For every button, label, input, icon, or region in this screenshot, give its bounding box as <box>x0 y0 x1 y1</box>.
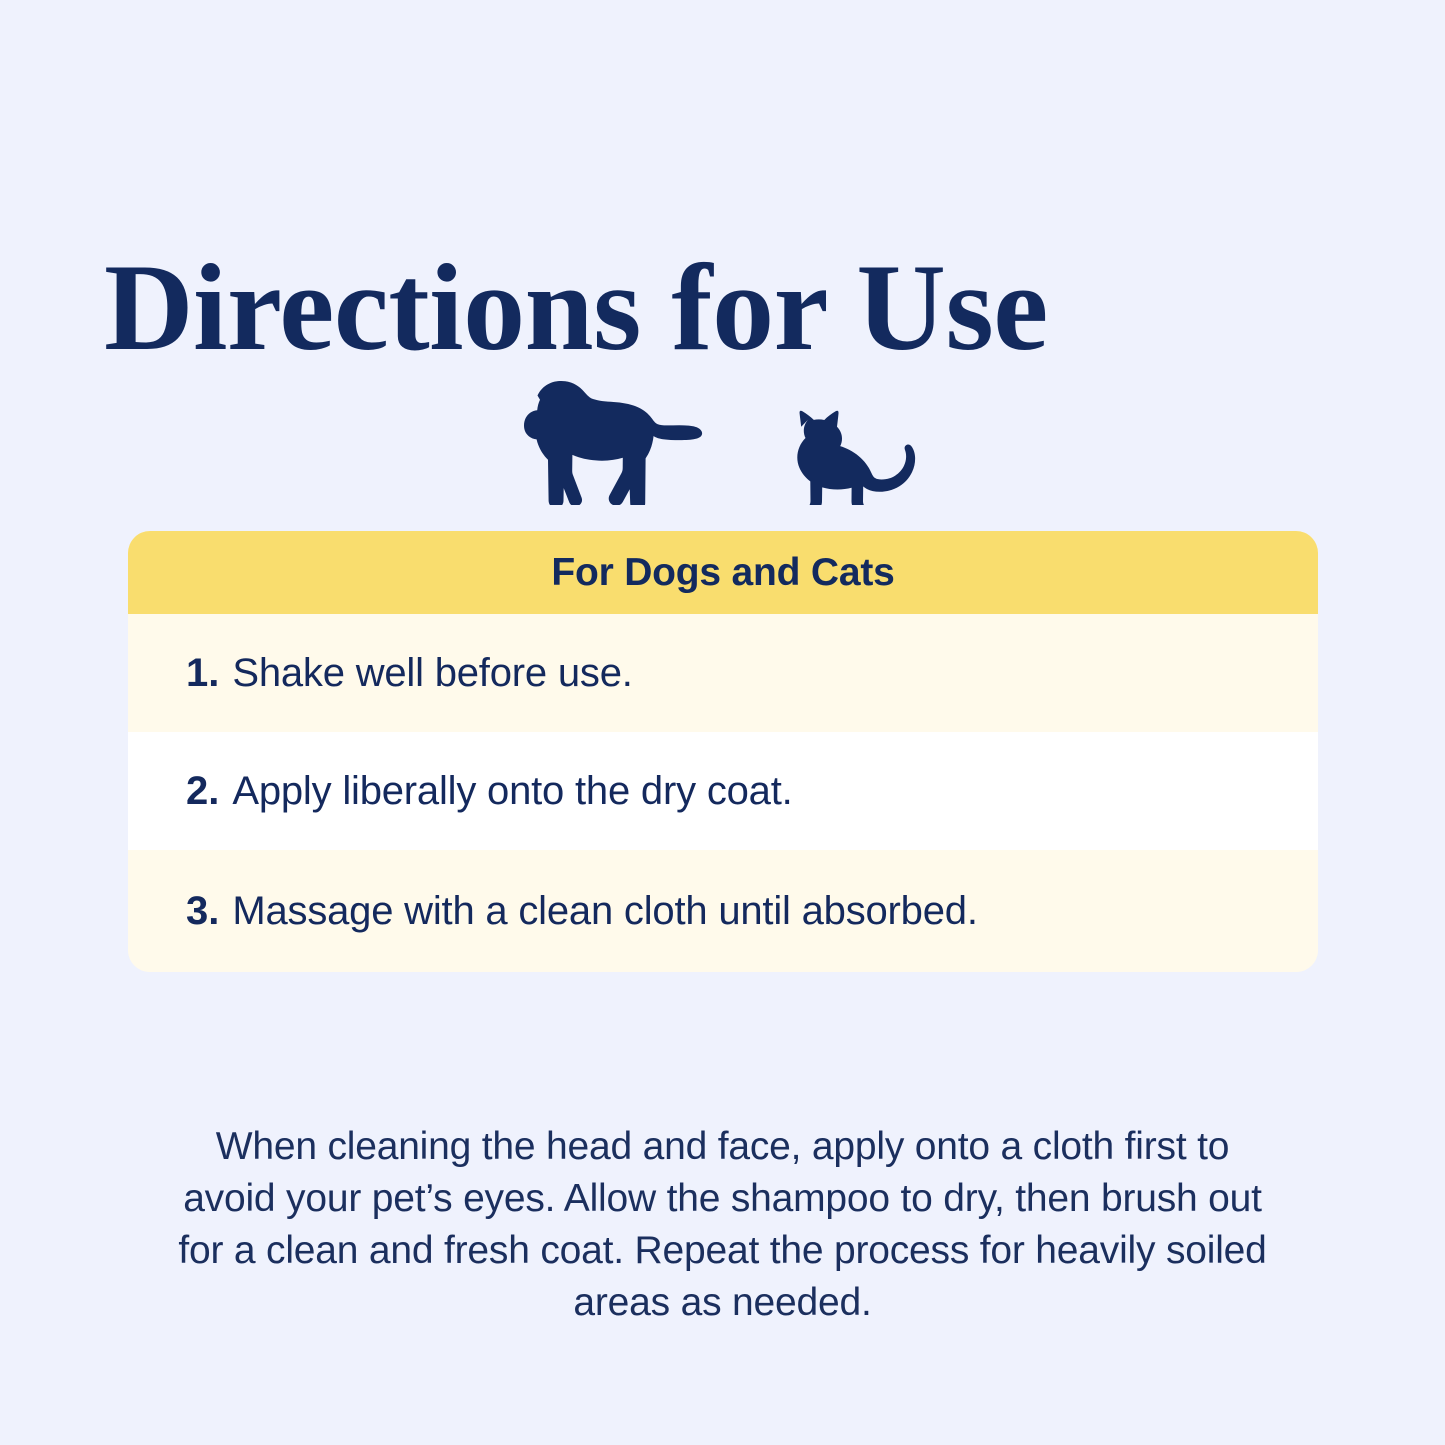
cat-silhouette-icon <box>782 407 942 505</box>
step-row: 2. Apply liberally onto the dry coat. <box>128 732 1318 850</box>
step-number: 2. <box>186 771 219 811</box>
animal-icons-row <box>0 370 1445 505</box>
directions-card: For Dogs and Cats 1. Shake well before u… <box>128 531 1318 972</box>
step-number: 3. <box>186 891 219 931</box>
step-text: Massage with a clean cloth until absorbe… <box>232 891 977 931</box>
directions-for-use-panel: Directions for Use For Dogs and Cats 1. … <box>0 0 1445 1445</box>
step-number: 1. <box>186 653 219 693</box>
card-header: For Dogs and Cats <box>128 531 1318 614</box>
footer-note: When cleaning the head and face, apply o… <box>178 1121 1268 1329</box>
step-row: 3. Massage with a clean cloth until abso… <box>128 850 1318 972</box>
page-title: Directions for Use <box>104 246 1048 370</box>
dog-silhouette-icon <box>504 379 704 505</box>
step-text: Apply liberally onto the dry coat. <box>232 771 792 811</box>
step-row: 1. Shake well before use. <box>128 614 1318 732</box>
step-text: Shake well before use. <box>232 653 632 693</box>
